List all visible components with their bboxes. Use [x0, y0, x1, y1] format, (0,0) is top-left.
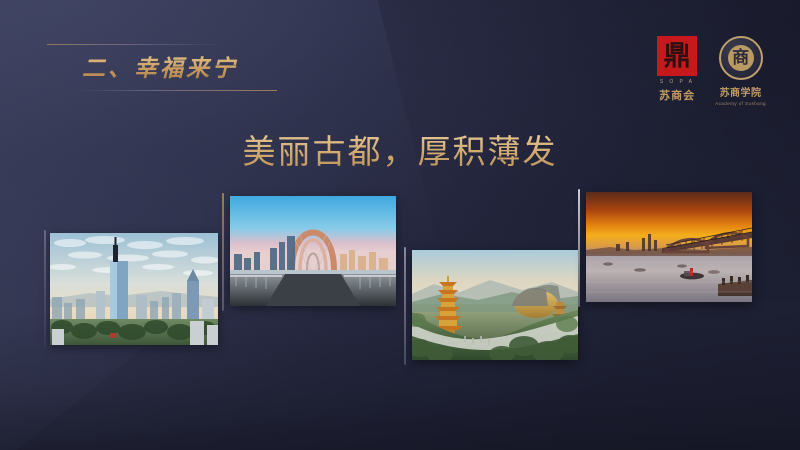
page-title: 二、幸福来宁	[82, 54, 297, 82]
photo-yangtze-bridge-sunset	[586, 192, 752, 302]
slide-canvas: 二、幸福来宁 鼎 S O P A 苏商会 商 苏商学院 Academy of S…	[0, 0, 800, 450]
academy-english-label: Academy of Sushang	[715, 101, 766, 106]
sopa-logo: 鼎 S O P A 苏商会	[657, 36, 697, 103]
academy-seal-icon: 商	[719, 36, 763, 80]
photo-niushou-mountain	[412, 250, 578, 360]
subtitle-text: 美丽古都，厚积薄发	[0, 130, 800, 174]
academy-seal-glyph: 商	[732, 50, 749, 67]
photo-4-accent-line	[578, 189, 580, 307]
photo-1-art	[50, 233, 218, 345]
photo-1-accent-line	[44, 230, 46, 348]
academy-name-label: 苏商学院	[720, 84, 762, 99]
top-divider-line	[47, 44, 225, 45]
bottom-divider-line	[77, 90, 277, 91]
photo-2-art	[230, 196, 396, 306]
photo-nanjing-skyline	[50, 233, 218, 345]
photo-3-accent-line	[404, 247, 406, 365]
photo-nanjing-eye-bridge	[230, 196, 396, 306]
sopa-seal-icon: 鼎	[657, 36, 697, 76]
sopa-name-label: 苏商会	[659, 87, 695, 103]
section-heading-block: 二、幸福来宁	[47, 44, 297, 91]
photo-4-art	[586, 192, 752, 302]
logo-bar: 鼎 S O P A 苏商会 商 苏商学院 Academy of Sushang	[657, 36, 766, 106]
academy-seal-inner: 商	[728, 45, 754, 71]
sopa-abbr-label: S O P A	[660, 79, 695, 85]
sopa-seal-glyph: 鼎	[664, 43, 691, 70]
academy-logo: 商 苏商学院 Academy of Sushang	[715, 36, 766, 106]
photo-2-accent-line	[222, 193, 224, 311]
photo-3-art	[412, 250, 578, 360]
